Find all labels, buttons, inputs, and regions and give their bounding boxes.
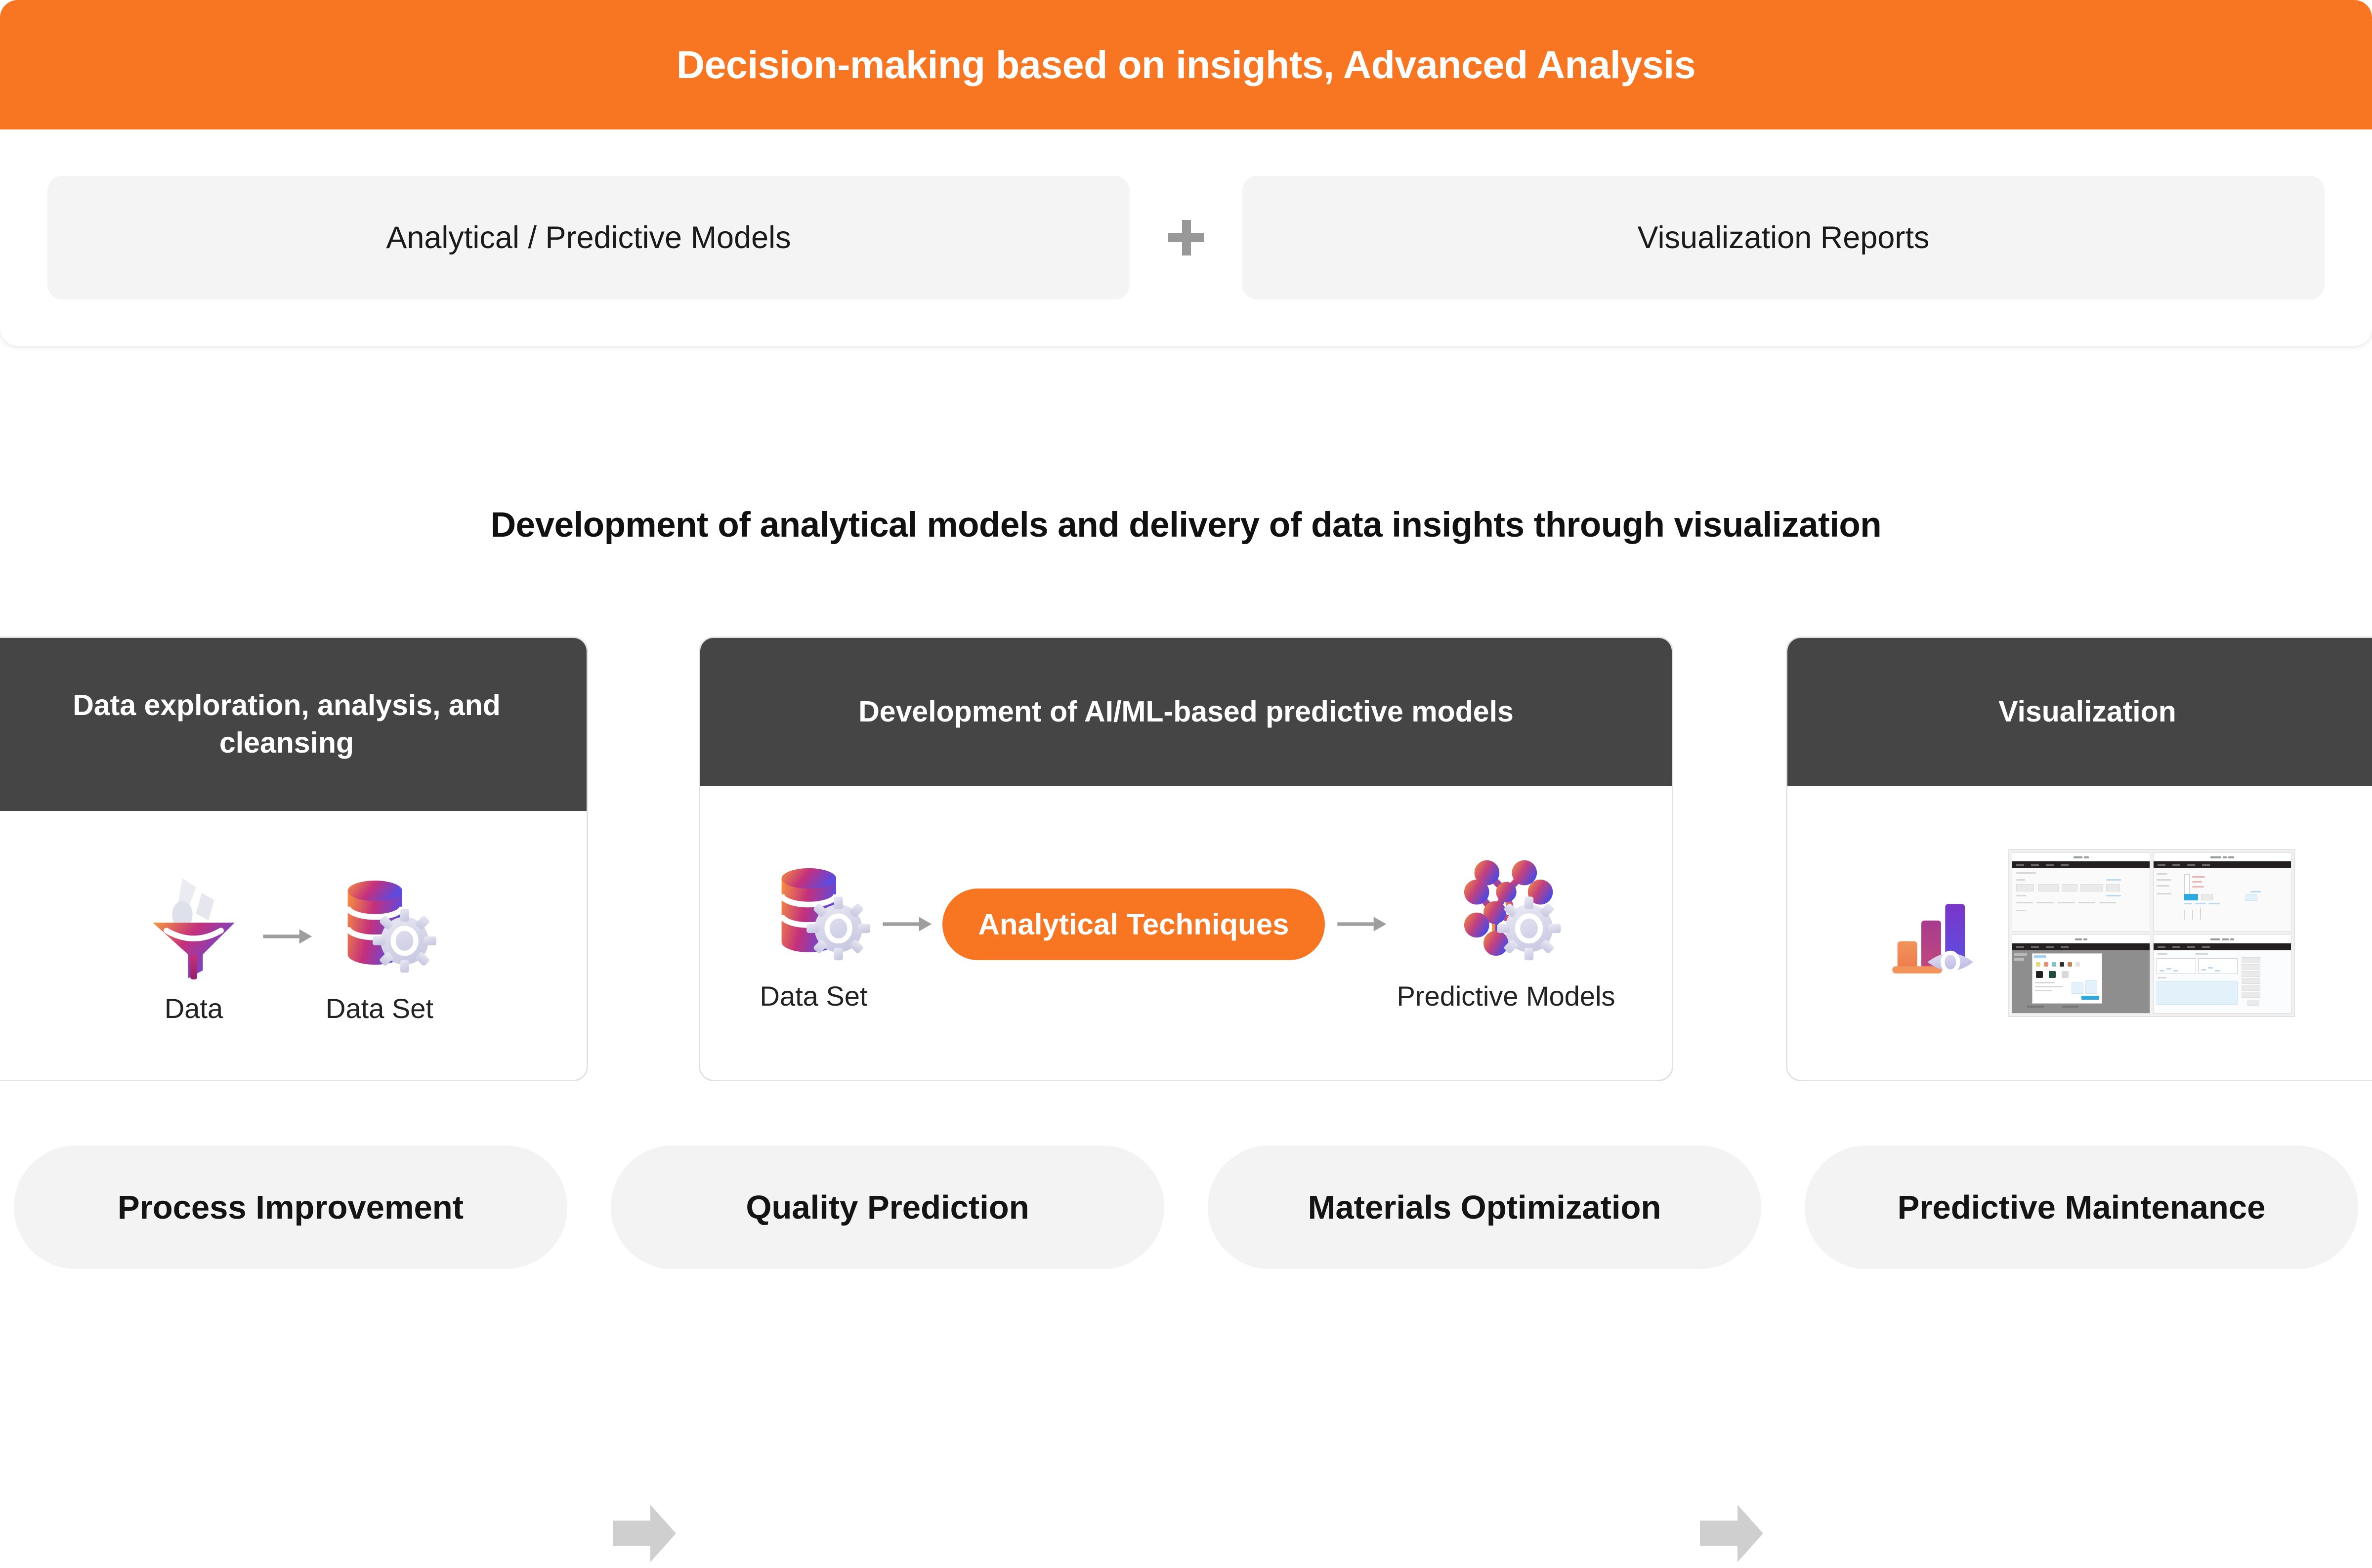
database-gear-icon (323, 866, 436, 979)
process-flow-row: Data exploration, analysis, and cleansin… (0, 636, 2372, 1081)
step-label: Data Set (760, 980, 868, 1013)
block-arrow-right-icon-1 (607, 1499, 681, 1568)
flow-card-data-exploration[interactable]: Data exploration, analysis, and cleansin… (0, 636, 588, 1081)
block-arrow-right-icon-2 (1694, 1499, 1768, 1568)
step-label: Data Set (326, 992, 433, 1025)
flow-card-visualization[interactable]: Visualization (1786, 636, 2372, 1081)
page-title: Decision-making based on insights, Advan… (677, 42, 1695, 87)
chip-label: Visualization Reports (1638, 220, 1930, 255)
plus-icon (1168, 220, 1204, 255)
thumbnail-caption (2154, 935, 2291, 943)
chip-visualization-reports[interactable]: Visualization Reports (1242, 176, 2325, 299)
plus-connector (1130, 220, 1242, 255)
thumbnail-content (2154, 950, 2291, 1013)
thumbnail-caption (2012, 935, 2150, 943)
card-title: Development of AI/ML-based predictive mo… (700, 638, 1672, 786)
outcome-pill-predictive-maintenance[interactable]: Predictive Maintenance (1805, 1145, 2358, 1269)
chip-label: Analytical / Predictive Models (386, 220, 791, 255)
flow-card-ai-ml-models[interactable]: Development of AI/ML-based predictive mo… (699, 636, 1673, 1081)
step-data: Data (137, 866, 251, 1025)
card-title: Visualization (1787, 638, 2372, 786)
outcomes-row: Process Improvement Quality Prediction M… (0, 1145, 2372, 1269)
thumbnail-titlebar (2012, 861, 2150, 868)
card-body: Data Set Analytical Techniques (700, 786, 1672, 1080)
thumbnail-titlebar (2154, 943, 2291, 950)
arrow-right-icon (1334, 909, 1388, 939)
panel-header: Decision-making based on insights, Advan… (0, 0, 2372, 129)
thumbnail-content (2012, 950, 2150, 1013)
card-body (1787, 786, 2372, 1080)
card-title: Data exploration, analysis, and cleansin… (0, 638, 587, 811)
database-gear-icon (757, 853, 870, 967)
thumbnail-titlebar (2012, 943, 2150, 950)
thumbnail-caption (2012, 853, 2150, 861)
section-heading: Development of analytical models and del… (0, 505, 2372, 545)
funnel-icon (137, 866, 251, 979)
thumbnail-content (2012, 868, 2150, 931)
advanced-analysis-panel: Decision-making based on insights, Advan… (0, 0, 2372, 346)
network-gear-icon (1449, 853, 1563, 967)
step-data-set: Data Set (757, 853, 870, 1013)
thumbnail-titlebar (2154, 861, 2291, 868)
analytical-techniques-pill[interactable]: Analytical Techniques (942, 889, 1324, 960)
step-label: Data (165, 992, 223, 1025)
step-predictive-models: Predictive Models (1397, 853, 1615, 1013)
thumbnail-2 (2153, 852, 2291, 932)
dashboard-thumbnails (2008, 849, 2295, 1017)
chip-analytical-predictive-models[interactable]: Analytical / Predictive Models (47, 176, 1130, 299)
thumbnail-4 (2153, 934, 2291, 1014)
outcome-pill-materials-optimization[interactable]: Materials Optimization (1208, 1145, 1761, 1269)
outcome-pill-process-improvement[interactable]: Process Improvement (14, 1145, 567, 1269)
thumbnail-content (2154, 868, 2291, 931)
card-body: Data (0, 811, 587, 1080)
thumbnail-1 (2012, 852, 2150, 932)
step-data-set: Data Set (323, 866, 436, 1025)
outcome-pill-quality-prediction[interactable]: Quality Prediction (611, 1145, 1164, 1269)
thumbnail-3 (2012, 934, 2150, 1014)
arrow-right-icon (259, 922, 314, 951)
arrow-right-icon (879, 909, 933, 939)
thumbnail-caption (2154, 853, 2291, 861)
panel-body: Analytical / Predictive Models Visualiza… (0, 129, 2372, 346)
bar-chart-eye-icon (1880, 881, 1984, 985)
step-label: Predictive Models (1397, 980, 1615, 1013)
